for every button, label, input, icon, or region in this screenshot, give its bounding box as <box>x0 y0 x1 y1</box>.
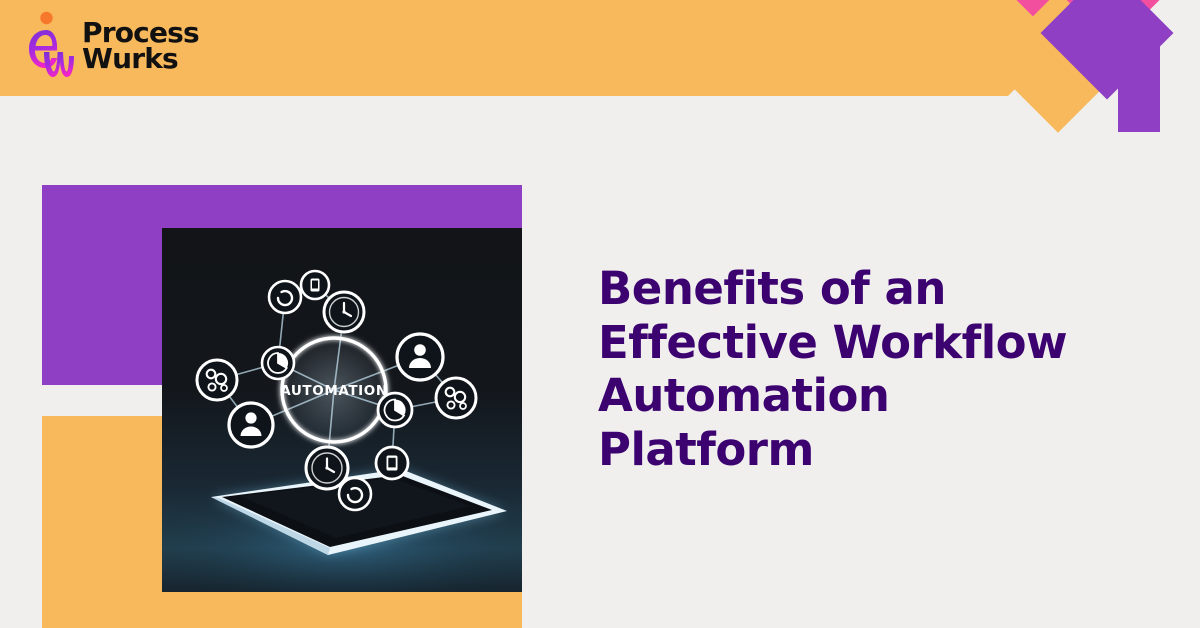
title-line-4: Platform <box>598 423 1138 477</box>
node-user-icon <box>229 403 273 447</box>
node-refresh-icon <box>339 478 371 510</box>
node-clock-icon <box>324 292 364 332</box>
node-mobile-icon <box>376 447 408 479</box>
poster-canvas: Process Wurks <box>0 0 1200 628</box>
node-pie-chart-icon <box>378 393 412 427</box>
node-mobile-icon <box>301 271 329 299</box>
ew-monogram-icon <box>24 8 76 80</box>
brand-name-line-2: Wurks <box>82 46 199 72</box>
page-title: Benefits of an Effective Workflow Automa… <box>598 262 1138 476</box>
node-gears-icon <box>197 360 237 400</box>
node-user-icon <box>397 334 443 380</box>
node-gears-icon <box>436 378 476 418</box>
brand-wordmark: Process Wurks <box>82 16 199 72</box>
hero-image: AUTOMATION <box>162 228 522 592</box>
automation-hub-label: AUTOMATION <box>280 383 388 399</box>
node-pie-chart-icon <box>262 347 294 379</box>
node-refresh-icon <box>269 281 301 313</box>
title-line-3: Automation <box>598 369 1138 423</box>
title-line-1: Benefits of an <box>598 262 1138 316</box>
purple-block <box>1118 42 1160 132</box>
brand-logo[interactable]: Process Wurks <box>24 8 199 80</box>
purple-triangle-icon <box>1100 42 1160 132</box>
node-clock-icon <box>306 447 348 489</box>
title-line-2: Effective Workflow <box>598 316 1138 370</box>
